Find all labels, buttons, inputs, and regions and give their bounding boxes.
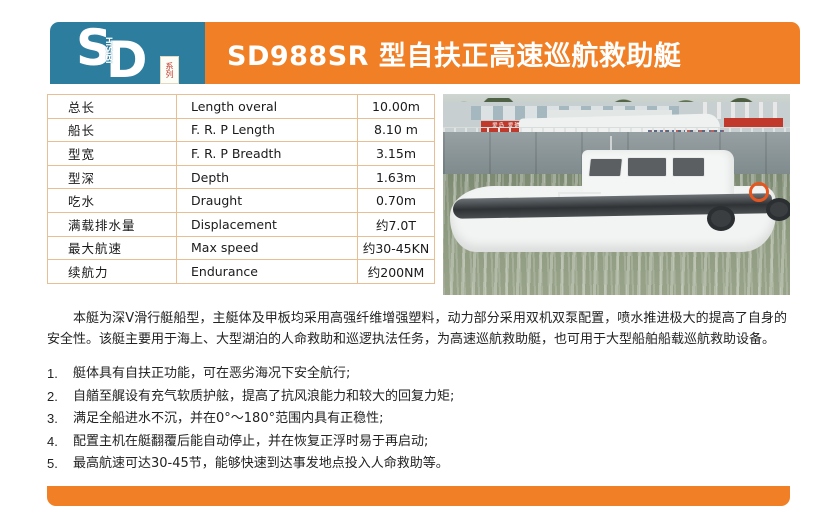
list-item-text: 满足全船进水不沉，并在0°～180°范围内具有正稳性; xyxy=(73,408,383,431)
spec-label-en: Length overal xyxy=(177,95,358,119)
brand-logo-block: S D HiSiBi 系列 xyxy=(50,22,205,84)
spec-value: 约7.0T xyxy=(358,212,435,236)
spec-value: 1.63m xyxy=(358,165,435,189)
table-row: 型宽 F. R. P Breadth 3.15m xyxy=(48,142,435,166)
list-item-text: 配置主机在艇翻覆后能自动停止，并在恢复正浮时易于再启动; xyxy=(73,431,428,454)
table-row: 满载排水量 Displacement 约7.0T xyxy=(48,212,435,236)
footer-bar xyxy=(47,486,790,506)
page-content: 总长 Length overal 10.00m 船长 F. R. P Lengt… xyxy=(47,94,790,476)
spec-value: 约200NM xyxy=(358,260,435,284)
feature-list: 1. 艇体具有自扶正功能，可在恶劣海况下安全航行; 2. 自艏至艉设有充气软质护… xyxy=(47,363,790,476)
list-item-number: 2. xyxy=(47,386,73,409)
spec-label-cn-text: 船长 xyxy=(68,120,156,139)
table-row: 型深 Depth 1.63m xyxy=(48,165,435,189)
list-item-number: 1. xyxy=(47,363,73,386)
spec-label-cn: 型深 xyxy=(48,165,177,189)
photo-fender-tube xyxy=(707,206,735,231)
spec-label-cn-text: 满载排水量 xyxy=(68,215,156,234)
list-item: 1. 艇体具有自扶正功能，可在恶劣海况下安全航行; xyxy=(47,363,790,386)
spec-label-cn-text: 续航力 xyxy=(68,262,156,281)
list-item-number: 4. xyxy=(47,431,73,454)
spec-value: 8.10 m xyxy=(358,118,435,142)
table-row: 总长 Length overal 10.00m xyxy=(48,95,435,119)
spec-value: 约30-45KN xyxy=(358,236,435,260)
logo-vertical-text: HiSiBi xyxy=(104,37,113,64)
table-row: 最大航速 Max speed 约30-45KN xyxy=(48,236,435,260)
spec-value: 10.00m xyxy=(358,95,435,119)
spec-label-cn: 最大航速 xyxy=(48,236,177,260)
list-item-text: 艇体具有自扶正功能，可在恶劣海况下安全航行; xyxy=(73,363,350,386)
list-item-number: 5. xyxy=(47,453,73,476)
photo-cabin-window xyxy=(672,157,705,177)
spec-label-cn-text: 吃水 xyxy=(68,191,156,210)
spec-label-cn-text: 型深 xyxy=(68,168,156,187)
table-row: 船长 F. R. P Length 8.10 m xyxy=(48,118,435,142)
spec-label-cn: 型宽 xyxy=(48,142,177,166)
specification-table: 总长 Length overal 10.00m 船长 F. R. P Lengt… xyxy=(47,94,435,284)
list-item: 2. 自艏至艉设有充气软质护舷，提高了抗风浪能力和较大的回复力矩; xyxy=(47,386,790,409)
spec-and-photo-row: 总长 Length overal 10.00m 船长 F. R. P Lengt… xyxy=(47,94,790,295)
spec-value: 0.70m xyxy=(358,189,435,213)
spec-label-cn: 船长 xyxy=(48,118,177,142)
spec-label-en: Draught xyxy=(177,189,358,213)
spec-label-en: Endurance xyxy=(177,260,358,284)
table-row: 吃水 Draught 0.70m xyxy=(48,189,435,213)
page-title: SD988SR 型自扶正高速巡航救助艇 xyxy=(227,34,681,73)
spec-label-cn: 满载排水量 xyxy=(48,212,177,236)
table-row: 续航力 Endurance 约200NM xyxy=(48,260,435,284)
photo-cabin-window xyxy=(627,157,667,177)
specification-table-body: 总长 Length overal 10.00m 船长 F. R. P Lengt… xyxy=(48,95,435,284)
photo-cabin-window xyxy=(588,158,623,177)
list-item-text: 自艏至艉设有充气软质护舷，提高了抗风浪能力和较大的回复力矩; xyxy=(73,386,454,409)
description-text: 本艇为深V滑行艇船型，主艇体及甲板均采用高强纤维增强塑料，动力部分采用双机双泵配… xyxy=(47,311,787,347)
spec-label-cn-text: 型宽 xyxy=(68,144,156,163)
header-title-block: SD988SR 型自扶正高速巡航救助艇 xyxy=(205,22,800,84)
spec-label-en: F. R. P Length xyxy=(177,118,358,142)
list-item: 5. 最高航速可达30-45节，能够快速到达事发地点投入人命救助等。 xyxy=(47,453,790,476)
logo-mark: S D HiSiBi 系列 xyxy=(68,24,164,82)
spec-label-en: Max speed xyxy=(177,236,358,260)
spec-label-cn-text: 总长 xyxy=(68,97,156,116)
spec-label-en: Depth xyxy=(177,165,358,189)
description-paragraph: 本艇为深V滑行艇船型，主艇体及甲板均采用高强纤维增强塑料，动力部分采用双机双泵配… xyxy=(47,308,787,350)
page-header: S D HiSiBi 系列 SD988SR 型自扶正高速巡航救助艇 xyxy=(50,22,800,84)
spec-label-en: F. R. P Breadth xyxy=(177,142,358,166)
list-item-text: 最高航速可达30-45节，能够快速到达事发地点投入人命救助等。 xyxy=(73,453,449,476)
photo-fender-tube xyxy=(766,198,790,221)
spec-value: 3.15m xyxy=(358,142,435,166)
spec-label-cn: 续航力 xyxy=(48,260,177,284)
list-item: 4. 配置主机在艇翻覆后能自动停止，并在恢复正浮时易于再启动; xyxy=(47,431,790,454)
boat-photo: 爱岛 爱礁石 爱海洋 勘警 奋斗 xyxy=(443,94,790,295)
list-item-number: 3. xyxy=(47,408,73,431)
logo-series-stamp: 系列 xyxy=(160,56,179,84)
logo-series-stamp-text: 系列 xyxy=(165,62,174,78)
spec-label-cn: 吃水 xyxy=(48,189,177,213)
list-item: 3. 满足全船进水不沉，并在0°～180°范围内具有正稳性; xyxy=(47,408,790,431)
spec-label-cn-text: 最大航速 xyxy=(68,238,156,257)
spec-label-cn: 总长 xyxy=(48,95,177,119)
spec-label-en: Displacement xyxy=(177,212,358,236)
